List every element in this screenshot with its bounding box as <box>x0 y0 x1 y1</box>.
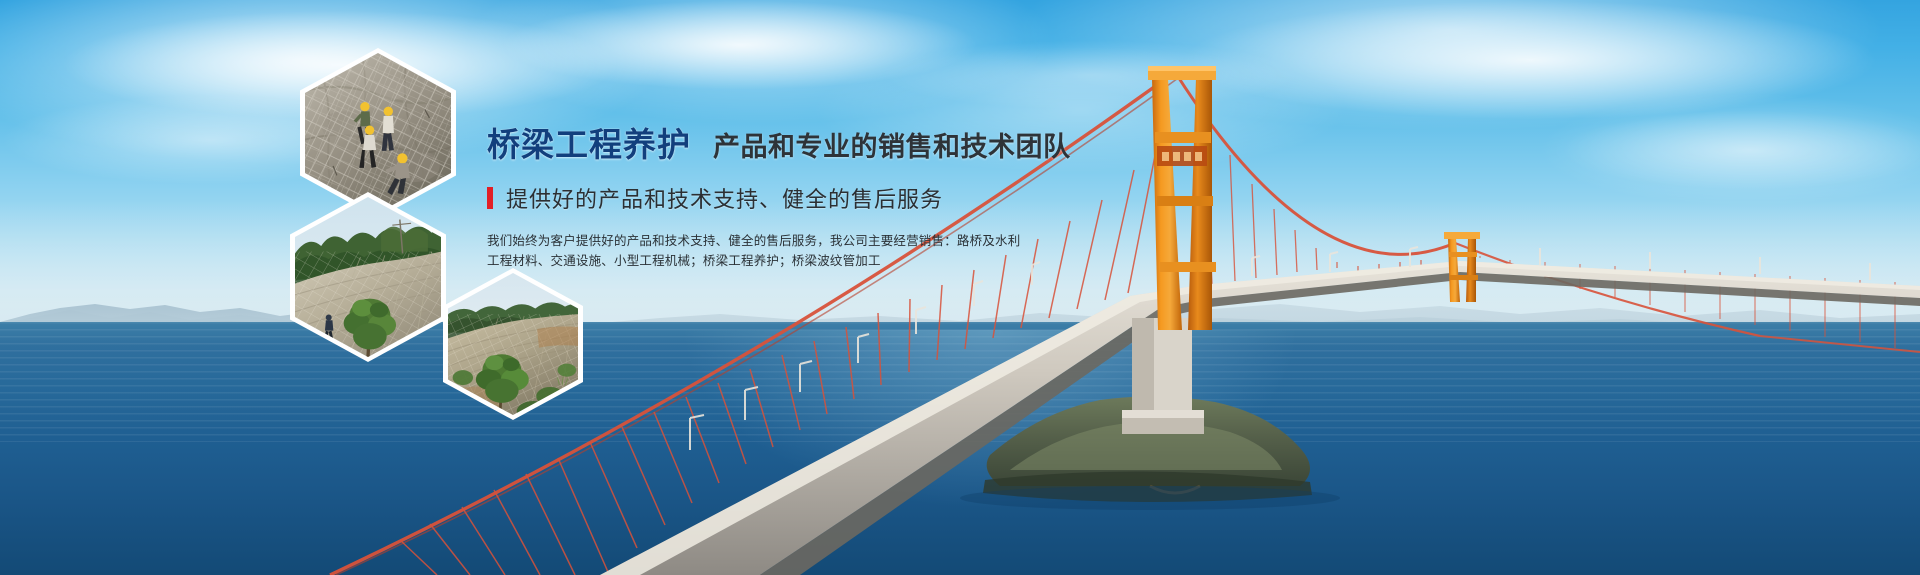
subheadline-text: 提供好的产品和技术支持、健全的售后服务 <box>506 182 943 214</box>
hero-banner: 桥梁工程养护 产品和专业的销售和技术团队 提供好的产品和技术支持、健全的售后服务… <box>0 0 1920 575</box>
description-line-2: 工程材料、交通设施、小型工程机械；桥梁工程养护；桥梁波纹管加工 <box>487 251 917 271</box>
headline-row: 桥梁工程养护 产品和专业的销售和技术团队 <box>487 118 1007 166</box>
description-line-1: 我们始终为客户提供好的产品和技术支持、健全的售后服务，我公司主要经营销售：路桥及… <box>487 231 917 251</box>
subheadline-row: 提供好的产品和技术支持、健全的售后服务 <box>487 182 1007 214</box>
description-paragraph: 我们始终为客户提供好的产品和技术支持、健全的售后服务，我公司主要经营销售：路桥及… <box>487 231 917 271</box>
headline-secondary: 产品和专业的销售和技术团队 <box>713 125 1071 164</box>
hex-photo-3 <box>443 268 583 420</box>
headline-main: 桥梁工程养护 <box>487 118 691 166</box>
banner-text-block: 桥梁工程养护 产品和专业的销售和技术团队 提供好的产品和技术支持、健全的售后服务… <box>487 118 1007 271</box>
red-accent-bar <box>487 187 493 209</box>
suspension-bridge <box>0 0 1920 575</box>
hex-photo-2 <box>290 192 446 362</box>
